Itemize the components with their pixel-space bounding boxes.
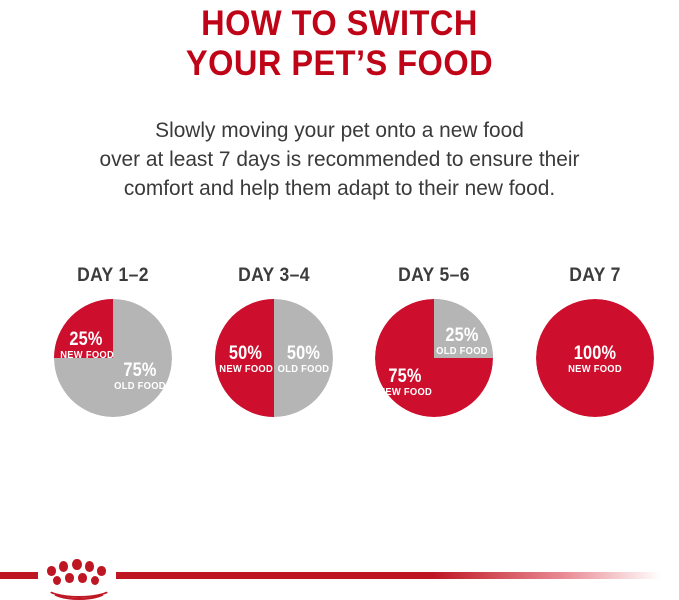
title-line-1: HOW TO SWITCH xyxy=(24,4,655,44)
page-title: HOW TO SWITCH YOUR PET’S FOOD xyxy=(0,4,679,84)
pie-cell-day-5-6: DAY 5–6 25% OLD FOOD 75% NEW FOOD xyxy=(354,264,514,417)
pie-pct-old-food-2: 50% xyxy=(279,344,328,363)
pie-cell-day-3-4: DAY 3–4 50% NEW FOOD 50% OLD FOOD xyxy=(194,264,354,417)
pie-label-new-food-1: 25% NEW FOOD xyxy=(58,330,114,361)
royal-canin-crown-icon xyxy=(41,556,113,594)
pie-pct-new-food-1: 25% xyxy=(62,330,110,349)
pie-name-old-food-1: OLD FOOD xyxy=(113,382,166,392)
pie-chart-day-5-6: 25% OLD FOOD 75% NEW FOOD xyxy=(375,299,493,417)
pie-name-new-food-4: NEW FOOD xyxy=(567,365,622,375)
intro-line-3: comfort and help them adapt to their new… xyxy=(10,174,669,203)
pie-name-old-food-3: OLD FOOD xyxy=(435,347,488,357)
pie-pct-old-food-1: 75% xyxy=(115,361,165,380)
pie-pct-new-food-4: 100% xyxy=(569,344,621,363)
pie-label-old-food-1: 75% OLD FOOD xyxy=(111,361,169,392)
day-label-1: DAY 1–2 xyxy=(41,264,185,286)
pie-label-new-food-2: 50% NEW FOOD xyxy=(217,344,274,375)
pie-label-old-food-3: 25% OLD FOOD xyxy=(433,326,491,357)
pie-pct-new-food-3: 75% xyxy=(380,367,430,386)
pie-label-old-food-2: 50% OLD FOOD xyxy=(275,344,332,375)
footer xyxy=(0,556,679,594)
pie-pct-old-food-3: 25% xyxy=(437,326,487,345)
pie-name-new-food-3: NEW FOOD xyxy=(378,388,431,398)
pie-pct-new-food-2: 50% xyxy=(221,344,270,363)
pie-chart-day-3-4: 50% NEW FOOD 50% OLD FOOD xyxy=(215,299,333,417)
pie-name-old-food-2: OLD FOOD xyxy=(277,365,329,375)
title-line-2: YOUR PET’S FOOD xyxy=(24,44,655,84)
day-label-3: DAY 5–6 xyxy=(362,264,506,286)
pie-chart-day-1-2: 25% NEW FOOD 75% OLD FOOD xyxy=(54,299,172,417)
intro-paragraph: Slowly moving your pet onto a new food o… xyxy=(0,116,679,203)
pie-name-new-food-2: NEW FOOD xyxy=(219,365,271,375)
pie-name-new-food-1: NEW FOOD xyxy=(60,351,112,361)
day-label-2: DAY 3–4 xyxy=(202,264,346,286)
pie-chart-row: DAY 1–2 25% NEW FOOD 75% OLD FOOD DAY 3–… xyxy=(0,264,679,444)
intro-line-2: over at least 7 days is recommended to e… xyxy=(10,145,669,174)
intro-line-1: Slowly moving your pet onto a new food xyxy=(10,116,669,145)
footer-bar-right xyxy=(116,572,661,579)
day-label-4: DAY 7 xyxy=(523,264,667,286)
pie-label-new-food-3: 75% NEW FOOD xyxy=(376,367,434,398)
infographic-page: { "title": { "line1": "HOW TO SWITCH", "… xyxy=(0,0,679,594)
pie-cell-day-7: DAY 7 100% NEW FOOD xyxy=(515,264,675,417)
footer-bar-left xyxy=(0,572,38,579)
pie-chart-day-7: 100% NEW FOOD xyxy=(536,299,654,417)
pie-label-new-food-4: 100% NEW FOOD xyxy=(565,344,625,375)
pie-disc-3 xyxy=(375,299,493,417)
pie-cell-day-1-2: DAY 1–2 25% NEW FOOD 75% OLD FOOD xyxy=(33,264,193,417)
